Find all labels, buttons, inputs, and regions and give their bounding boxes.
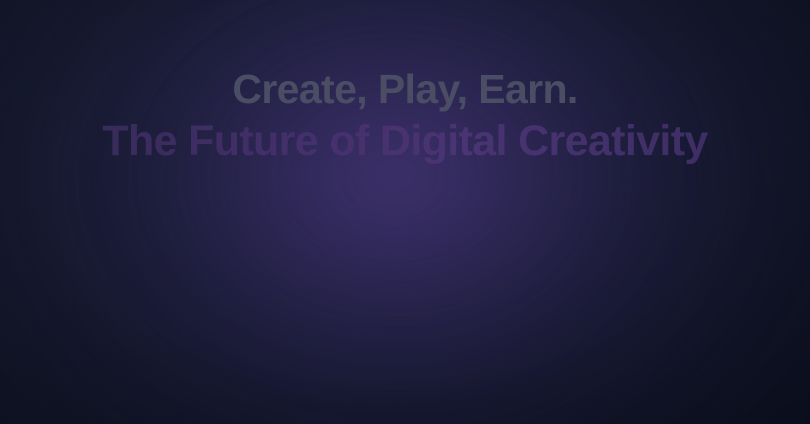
hero-headline-primary: Create, Play, Earn. [0,64,810,114]
hero-section: Create, Play, Earn. The Future of Digita… [0,0,810,424]
hero-headline-secondary: The Future of Digital Creativity [0,114,810,168]
hero-headline-block: Create, Play, Earn. The Future of Digita… [0,0,810,168]
